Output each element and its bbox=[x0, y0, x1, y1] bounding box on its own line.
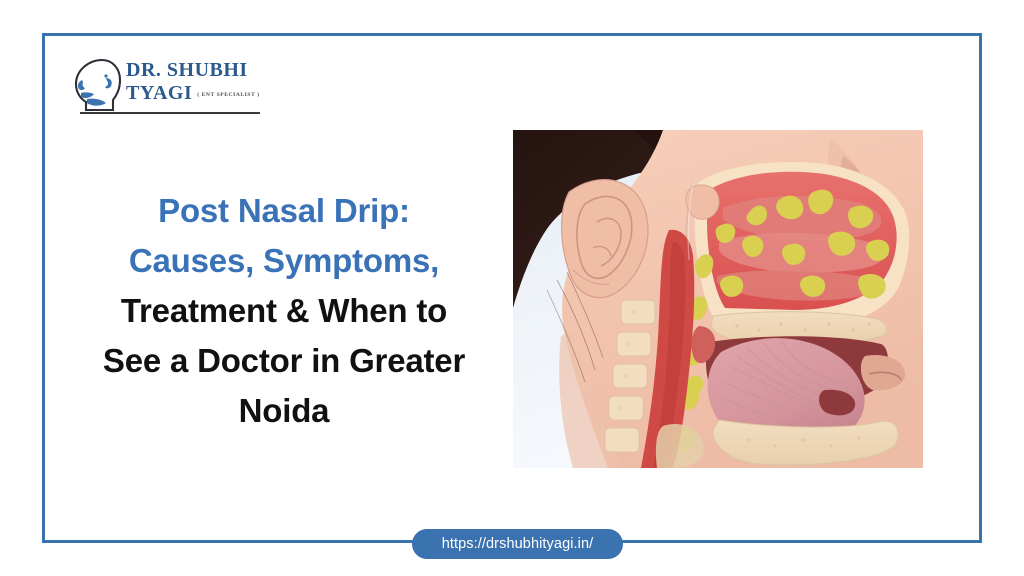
title-line-5: Noida bbox=[55, 386, 513, 436]
brand-name-line2-text: TYAGI bbox=[126, 82, 192, 104]
brand-logo[interactable]: DR. SHUBHI TYAGI( ENT SPECIALIST ) bbox=[72, 56, 267, 120]
brand-name-line2: TYAGI( ENT SPECIALIST ) bbox=[126, 83, 268, 103]
poster-canvas: DR. SHUBHI TYAGI( ENT SPECIALIST ) Post … bbox=[0, 0, 1024, 576]
brand-subtitle: ( ENT SPECIALIST ) bbox=[197, 93, 259, 99]
brand-logo-text: DR. SHUBHI TYAGI( ENT SPECIALIST ) bbox=[126, 60, 268, 103]
title-line-2: Causes, Symptoms, bbox=[55, 236, 513, 286]
page-title: Post Nasal Drip: Causes, Symptoms, Treat… bbox=[55, 186, 513, 436]
nasal-anatomy-illustration bbox=[513, 130, 923, 468]
website-url-badge[interactable]: https://drshubhityagi.in/ bbox=[412, 529, 623, 559]
logo-underline-rule bbox=[80, 112, 260, 114]
title-line-3: Treatment & When to bbox=[55, 286, 513, 336]
head-profile-ent-icon bbox=[72, 58, 124, 114]
brand-name-line1: DR. SHUBHI bbox=[126, 60, 268, 80]
title-line-4: See a Doctor in Greater bbox=[55, 336, 513, 386]
title-line-1: Post Nasal Drip: bbox=[55, 186, 513, 236]
